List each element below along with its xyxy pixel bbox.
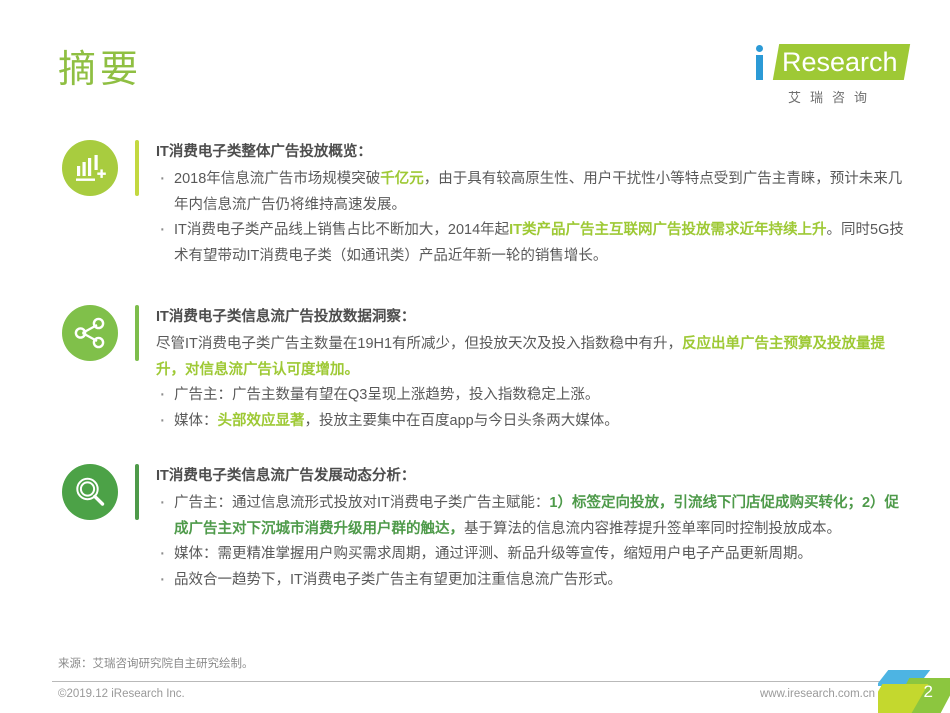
body-text: 广告主：广告主数量有望在Q3呈现上涨趋势，投入指数稳定上涨。: [174, 387, 599, 403]
logo-wordmark: Research: [782, 46, 898, 78]
bullet-item: 品效合一趋势下，IT消费电子类广告主有望更加注重信息流广告形式。: [156, 568, 912, 594]
section-divider: [118, 140, 156, 196]
body-text: 2018年信息流广告市场规模突破: [174, 171, 380, 187]
summary-sections: IT消费电子类整体广告投放概览：2018年信息流广告市场规模突破千亿元，由于具有…: [0, 140, 950, 593]
divider-bar: [135, 464, 139, 520]
body-text: 媒体：: [174, 413, 218, 429]
bar-chart-plus-icon: [73, 151, 107, 185]
section-divider: [118, 305, 156, 361]
highlight-text: IT类产品广告主互联网广告投放需求近年持续上升: [509, 222, 826, 238]
section-heading: IT消费电子类整体广告投放概览：: [156, 140, 912, 165]
section-icon-column: [0, 464, 118, 520]
bullet-item: IT消费电子类产品线上销售占比不断加大，2014年起IT类产品广告主互联网广告投…: [156, 218, 912, 269]
summary-section-1: IT消费电子类整体广告投放概览：2018年信息流广告市场规模突破千亿元，由于具有…: [0, 140, 950, 269]
corner-decoration: [878, 670, 950, 713]
body-text: 尽管IT消费电子类广告主数量在19H1有所减少，但投放天次及投入指数稳中有升，: [156, 336, 682, 352]
section-icon-column: [0, 305, 118, 361]
bullet-item: 2018年信息流广告市场规模突破千亿元，由于具有较高原生性、用户干扰性小等特点受…: [156, 167, 912, 218]
section-divider: [118, 464, 156, 520]
bullet-item: 媒体：头部效应显著，投放主要集中在百度app与今日头条两大媒体。: [156, 409, 912, 435]
section-text-column: IT消费电子类整体广告投放概览：2018年信息流广告市场规模突破千亿元，由于具有…: [156, 140, 950, 269]
iresearch-logo: Research 艾瑞咨询: [740, 42, 910, 104]
section-paragraph: 尽管IT消费电子类广告主数量在19H1有所减少，但投放天次及投入指数稳中有升，反…: [156, 332, 912, 383]
logo-i-dot-icon: [756, 45, 763, 52]
section-icon-column: [0, 140, 118, 196]
bullet-item: 广告主：广告主数量有望在Q3呈现上涨趋势，投入指数稳定上涨。: [156, 383, 912, 409]
section-text-column: IT消费电子类信息流广告发展动态分析：广告主：通过信息流形式投放对IT消费电子类…: [156, 464, 950, 593]
logo-mark: Research: [748, 42, 908, 82]
logo-chinese-name: 艾瑞咨询: [740, 87, 910, 106]
divider-bar: [135, 140, 139, 196]
source-note: 来源：艾瑞咨询研究院自主研究绘制。: [58, 655, 254, 671]
bar-chart-plus-icon-badge: [62, 140, 118, 196]
bullet-list: 2018年信息流广告市场规模突破千亿元，由于具有较高原生性、用户干扰性小等特点受…: [156, 167, 912, 269]
summary-section-2: IT消费电子类信息流广告投放数据洞察：尽管IT消费电子类广告主数量在19H1有所…: [0, 305, 950, 434]
magnifier-icon: [73, 475, 107, 509]
body-text: ，投放主要集中在百度app与今日头条两大媒体。: [305, 413, 619, 429]
summary-section-3: IT消费电子类信息流广告发展动态分析：广告主：通过信息流形式投放对IT消费电子类…: [0, 464, 950, 593]
share-nodes-icon-badge: [62, 305, 118, 361]
page-title: 摘要: [58, 48, 142, 94]
bullet-list: 广告主：广告主数量有望在Q3呈现上涨趋势，投入指数稳定上涨。媒体：头部效应显著，…: [156, 383, 912, 434]
body-text: 基于算法的信息流内容推荐提升签单率同时控制投放成本。: [464, 521, 841, 537]
highlight-text: 千亿元: [380, 171, 424, 187]
magnifier-icon-badge: [62, 464, 118, 520]
website-url: www.iresearch.com.cn: [760, 688, 875, 700]
footer-divider: [52, 681, 898, 682]
body-text: 广告主：通过信息流形式投放对IT消费电子类广告主赋能：: [174, 495, 549, 511]
body-text: 媒体：需更精准掌握用户购买需求周期，通过评测、新品升级等宣传，缩短用户电子产品更…: [174, 546, 812, 562]
section-heading: IT消费电子类信息流广告发展动态分析：: [156, 464, 912, 489]
bullet-item: 广告主：通过信息流形式投放对IT消费电子类广告主赋能：1）标签定向投放，引流线下…: [156, 491, 912, 542]
highlight-text: 头部效应显著: [218, 413, 305, 429]
bullet-item: 媒体：需更精准掌握用户购买需求周期，通过评测、新品升级等宣传，缩短用户电子产品更…: [156, 542, 912, 568]
slide-canvas: 摘要 Research 艾瑞咨询 IT消费电子类整体广告投放概览：2018年信息…: [0, 0, 950, 713]
logo-i-stem-icon: [756, 55, 763, 80]
body-text: 品效合一趋势下，IT消费电子类广告主有望更加注重信息流广告形式。: [174, 572, 622, 588]
divider-bar: [135, 305, 139, 361]
share-nodes-icon: [73, 316, 107, 350]
section-heading: IT消费电子类信息流广告投放数据洞察：: [156, 305, 912, 330]
page-number: 2: [924, 682, 933, 702]
section-text-column: IT消费电子类信息流广告投放数据洞察：尽管IT消费电子类广告主数量在19H1有所…: [156, 305, 950, 434]
copyright-text: ©2019.12 iResearch Inc.: [58, 688, 185, 700]
body-text: IT消费电子类产品线上销售占比不断加大，2014年起: [174, 222, 509, 238]
bullet-list: 广告主：通过信息流形式投放对IT消费电子类广告主赋能：1）标签定向投放，引流线下…: [156, 491, 912, 593]
